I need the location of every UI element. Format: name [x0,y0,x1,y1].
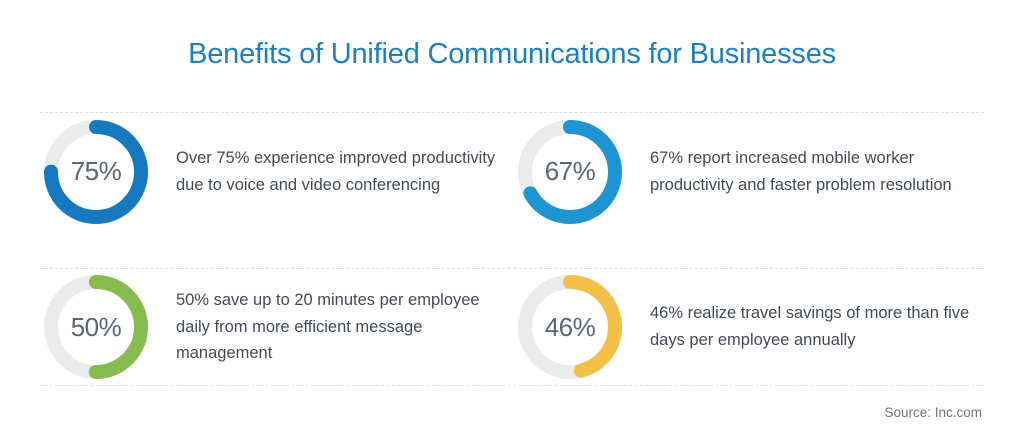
stat-description: 50% save up to 20 minutes per employee d… [176,287,510,367]
stat-card: 67% 67% report increased mobile worker p… [514,112,984,230]
donut-chart: 50% [44,275,148,379]
page-title: Benefits of Unified Communications for B… [0,38,1024,71]
stat-description: Over 75% experience improved productivit… [176,145,510,198]
donut-value-label: 50% [44,275,148,379]
stat-description: 67% report increased mobile worker produ… [650,145,984,198]
donut-value-label: 46% [518,275,622,379]
donut-value-label: 75% [44,120,148,224]
source-attribution: Source: Inc.com [884,405,982,420]
stat-card: 50% 50% save up to 20 minutes per employ… [40,268,510,386]
donut-value-label: 67% [518,120,622,224]
donut-chart: 75% [44,120,148,224]
stat-description: 46% realize travel savings of more than … [650,300,984,353]
infographic-canvas: Benefits of Unified Communications for B… [0,0,1024,442]
stats-grid: 75% Over 75% experience improved product… [40,112,984,386]
stat-card: 46% 46% realize travel savings of more t… [514,268,984,386]
stat-card: 75% Over 75% experience improved product… [40,112,510,230]
donut-chart: 67% [518,120,622,224]
donut-chart: 46% [518,275,622,379]
